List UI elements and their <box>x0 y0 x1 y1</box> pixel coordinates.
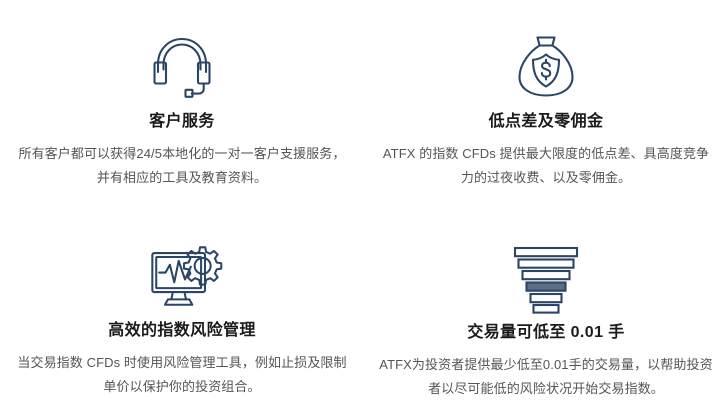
headset-icon <box>143 27 221 105</box>
feature-card-lot-size: 交易量可低至 0.01 手 ATFX为投资者提供最少低至0.01手的交易量，以帮… <box>364 206 728 413</box>
funnel-bars-icon <box>507 238 585 316</box>
feature-title: 高效的指数风险管理 <box>108 321 256 342</box>
feature-description: ATFX为投资者提供最少低至0.01手的交易量，以帮助投资者以尽可能低的风险状况… <box>379 353 713 401</box>
features-grid: 客户服务 所有客户都可以获得24/5本地化的一对一客户支援服务，并有相应的工具及… <box>0 0 728 413</box>
feature-title: 交易量可低至 0.01 手 <box>467 323 624 344</box>
feature-description: 所有客户都可以获得24/5本地化的一对一客户支援服务，并有相应的工具及教育资料。 <box>15 142 349 190</box>
feature-title: 客户服务 <box>149 112 215 133</box>
feature-card-customer-service: 客户服务 所有客户都可以获得24/5本地化的一对一客户支援服务，并有相应的工具及… <box>0 0 364 206</box>
monitor-chart-gear-icon <box>146 236 224 314</box>
feature-title: 低点差及零佣金 <box>489 112 604 133</box>
feature-card-low-spread: 低点差及零佣金 ATFX 的指数 CFDs 提供最大限度的低点差、具高度竞争力的… <box>364 0 728 206</box>
money-bag-shield-icon <box>507 27 585 105</box>
feature-description: 当交易指数 CFDs 时使用风险管理工具，例如止损及限制单价以保护你的投资组合。 <box>15 351 349 399</box>
feature-card-risk-management: 高效的指数风险管理 当交易指数 CFDs 时使用风险管理工具，例如止损及限制单价… <box>0 206 364 413</box>
feature-description: ATFX 的指数 CFDs 提供最大限度的低点差、具高度竞争力的过夜收费、以及零… <box>379 142 713 190</box>
